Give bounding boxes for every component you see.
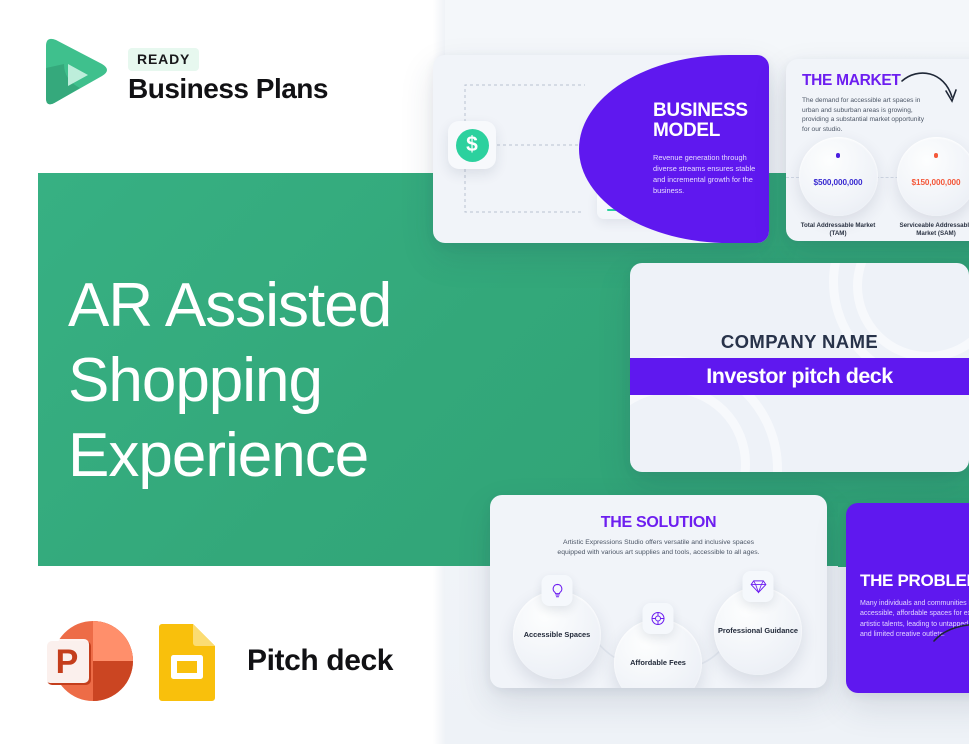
dollar-glyph: $ <box>456 129 489 162</box>
stat-value: $500,000,000 <box>814 178 863 187</box>
stat-value: $150,000,000 <box>912 178 961 187</box>
slide-title: THE PROBLEM <box>860 571 969 591</box>
stat-caption: Total Addressable Market (TAM) <box>794 222 882 239</box>
slide-cover-company[interactable]: COMPANY NAME Investor pitch deck <box>630 263 969 472</box>
ready-badge: READY <box>128 48 199 71</box>
dollar-sign-icon: $ <box>448 121 496 169</box>
slide-title: BUSINESS MODEL <box>653 101 765 141</box>
market-stat: $500,000,000 Total Addressable Market (T… <box>794 137 882 239</box>
company-name: COMPANY NAME <box>630 331 969 353</box>
lightbulb-icon <box>542 575 573 606</box>
preview-canvas: READY Business Plans AR Assisted Shoppin… <box>0 0 969 744</box>
format-label: Pitch deck <box>247 644 393 678</box>
solution-item[interactable]: Affordable Fees <box>614 619 702 688</box>
slide-the-market[interactable]: THE MARKET The demand for accessible art… <box>786 59 969 241</box>
diamond-icon <box>743 571 774 602</box>
solution-items: Accessible Spaces Affordable Fees <box>490 579 827 687</box>
deck-subtitle: Investor pitch deck <box>706 364 892 389</box>
brand-text-block: READY Business Plans <box>128 46 328 104</box>
stat-knob: $150,000,000 <box>897 137 969 216</box>
curved-arrow-icon <box>900 69 960 111</box>
slide-description: Revenue generation through diverse strea… <box>653 152 765 196</box>
slide-the-solution[interactable]: THE SOLUTION Artistic Expressions Studio… <box>490 495 827 688</box>
brand-logo: READY Business Plans <box>38 34 328 116</box>
page-title: AR Assisted Shopping Experience <box>68 268 448 493</box>
deck-subtitle-bar: Investor pitch deck <box>630 358 969 395</box>
stat-dot <box>836 153 841 158</box>
format-row: P Pitch deck <box>45 617 393 705</box>
play-triangle-logo <box>38 34 112 116</box>
solution-item[interactable]: Accessible Spaces <box>513 591 601 679</box>
stat-caption: Serviceable Addressable Market (SAM) <box>892 222 969 239</box>
slide-title: THE SOLUTION <box>490 514 827 532</box>
curved-arrow-icon <box>932 621 969 647</box>
powerpoint-icon: P <box>45 617 133 705</box>
target-icon <box>643 603 674 634</box>
svg-text:P: P <box>56 643 79 681</box>
brand-name: Business Plans <box>128 73 328 104</box>
slide-description: Artistic Expressions Studio offers versa… <box>550 538 768 558</box>
market-stat: $150,000,000 Serviceable Addressable Mar… <box>892 137 969 239</box>
slide-the-problem[interactable]: THE PROBLEM Many individuals and communi… <box>846 503 969 693</box>
stat-knob: $500,000,000 <box>799 137 878 216</box>
slide-business-model[interactable]: $ Drop-in Fees Session Workshops Commiss… <box>433 55 769 243</box>
market-stats: $500,000,000 Total Addressable Market (T… <box>786 137 969 239</box>
stat-dot <box>934 153 939 158</box>
google-slides-icon <box>155 621 219 701</box>
solution-item[interactable]: Professional Guidance <box>714 587 802 675</box>
